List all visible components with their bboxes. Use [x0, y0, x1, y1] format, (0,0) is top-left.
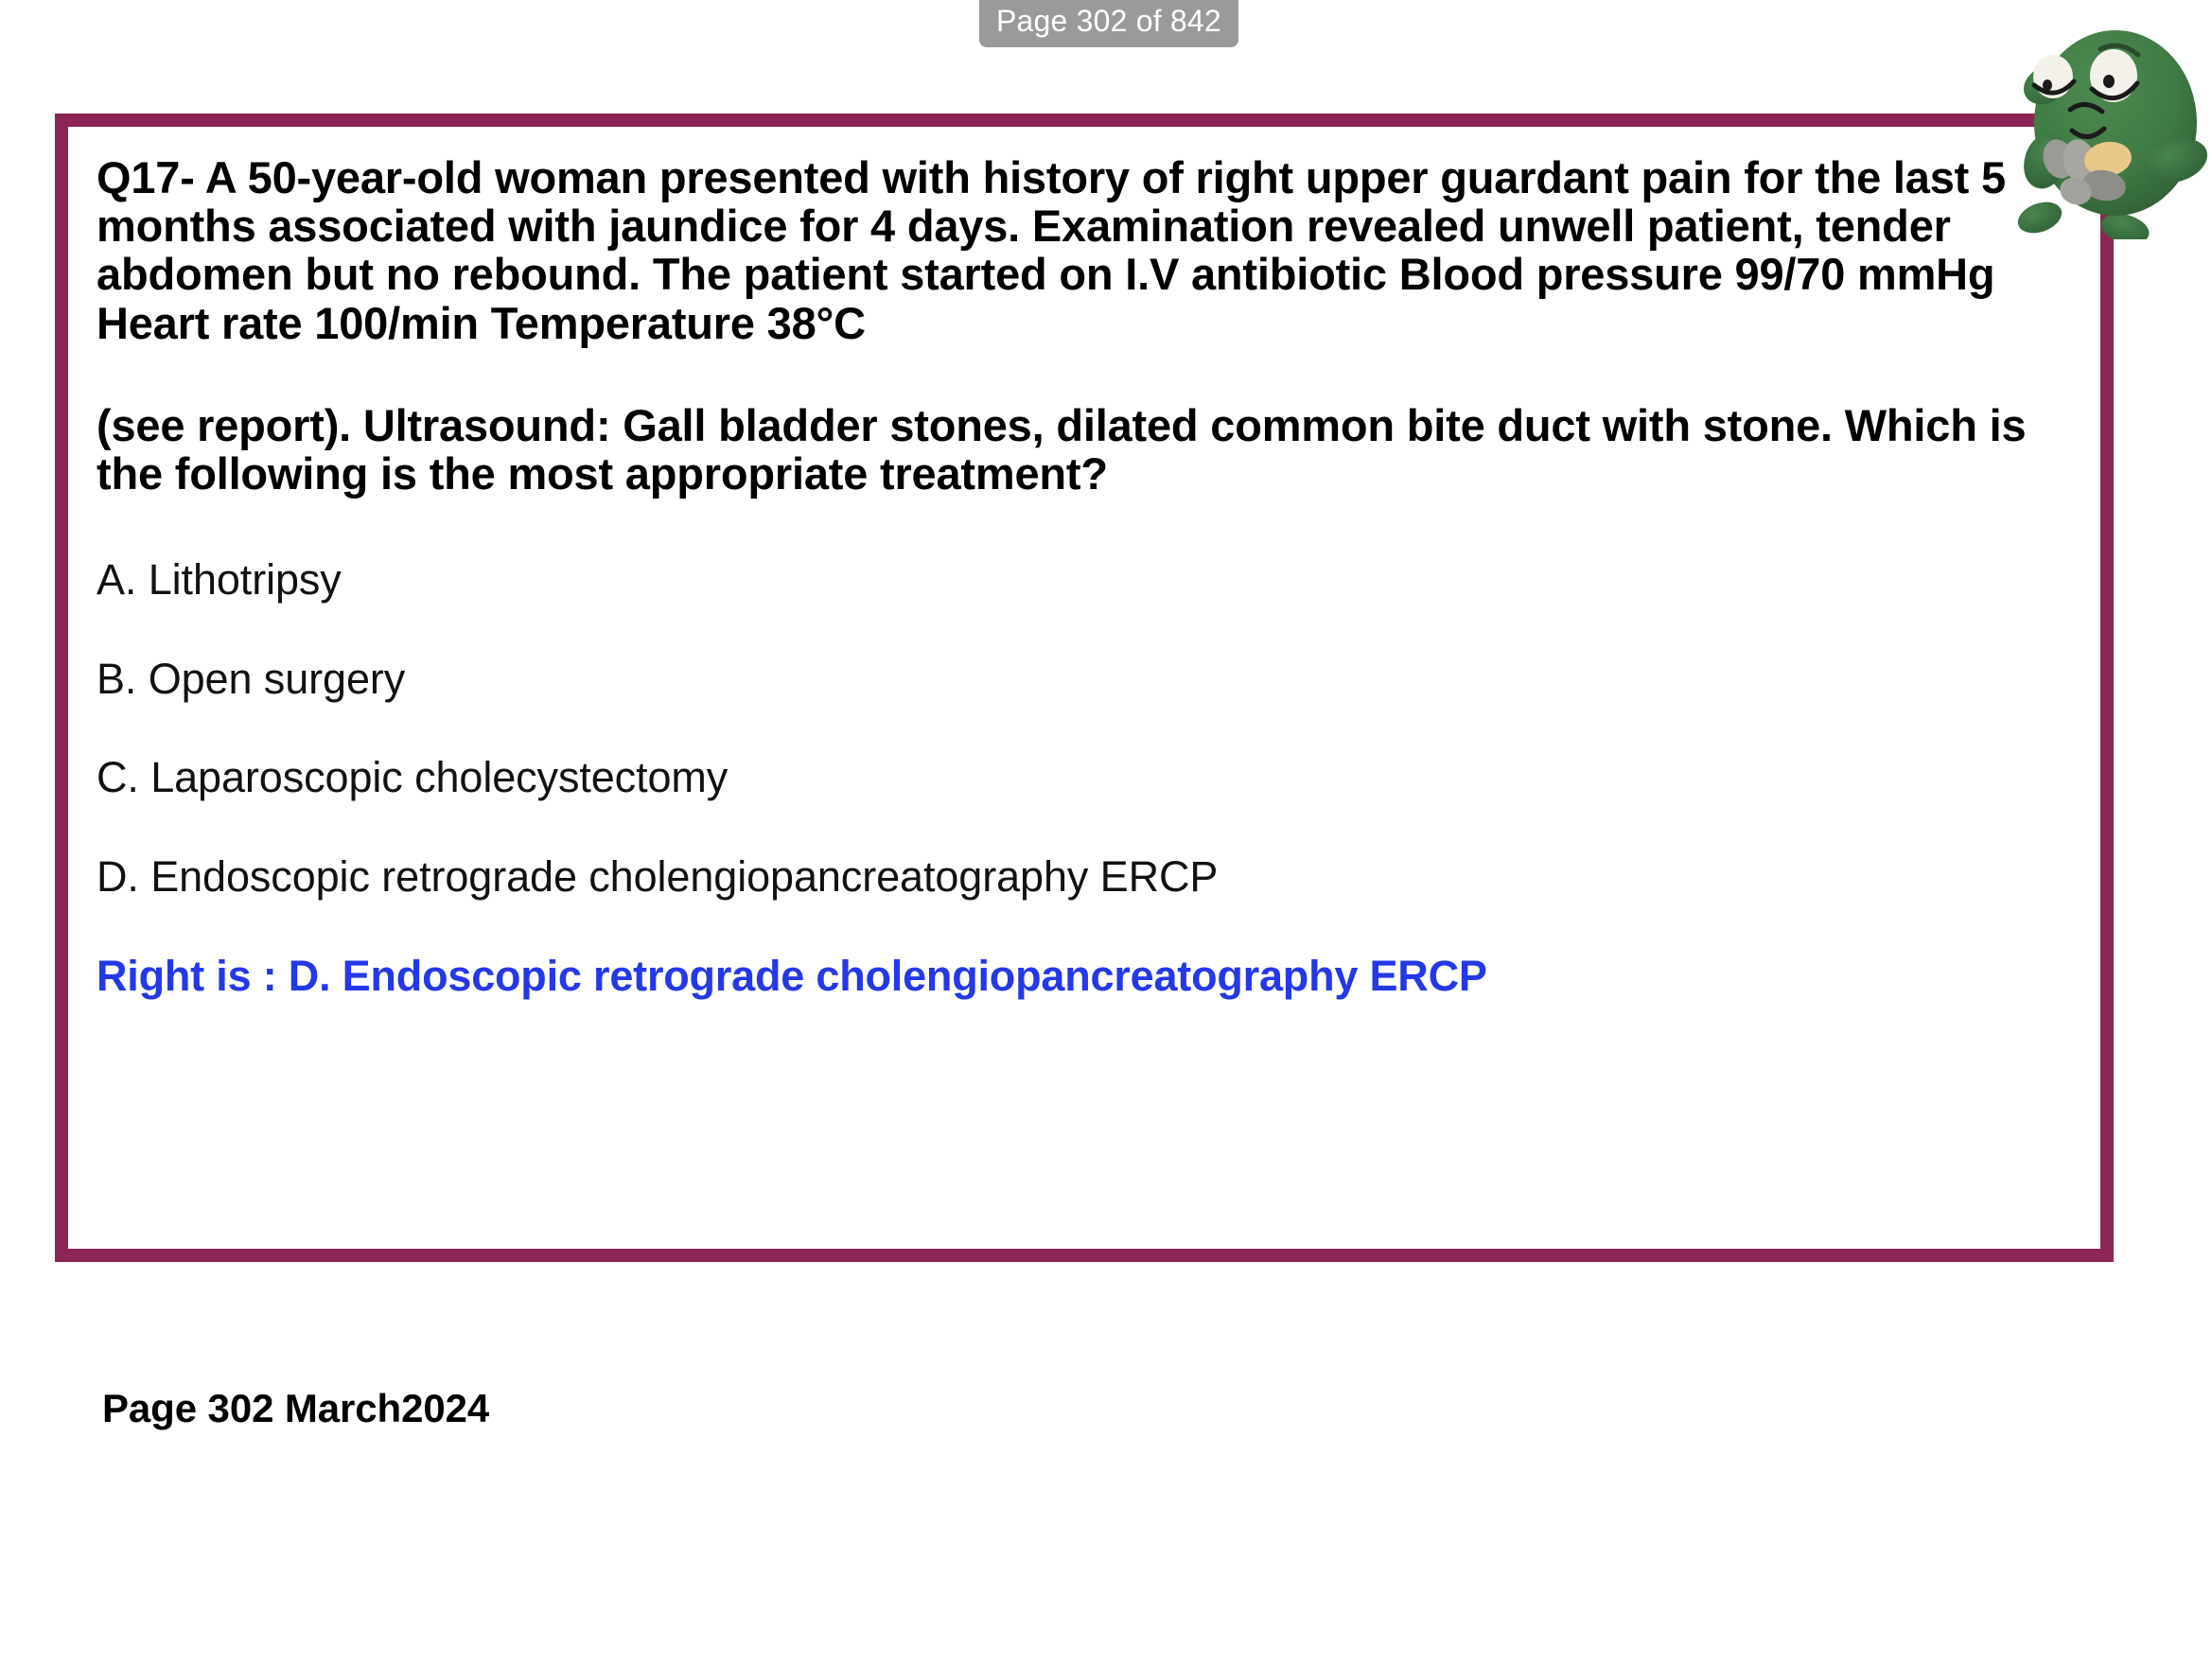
mascot-right-pupil	[2103, 75, 2115, 88]
mascot-right-eye	[2090, 49, 2137, 102]
mascot-brow-furrow	[2070, 104, 2102, 112]
correct-answer-line: Right is : D. Endoscopic retrograde chol…	[97, 952, 2072, 1001]
mascot-left-pupil	[2043, 79, 2052, 91]
question-stem-paragraph-1: Q17- A 50-year-old woman presented with …	[97, 153, 2017, 347]
mascot-right-eyebrow	[2100, 45, 2138, 55]
question-card: Q17- A 50-year-old woman presented with …	[55, 114, 2114, 1262]
page-indicator-badge: Page 302 of 842	[979, 0, 1238, 47]
mascot-left-eyelid	[2034, 81, 2074, 93]
mascot-right-arm	[2139, 131, 2212, 191]
answer-options-list: A. Lithotripsy B. Open surgery C. Laparo…	[97, 556, 2072, 900]
question-stem-paragraph-2: (see report). Ultrasound: Gall bladder s…	[97, 401, 2064, 498]
mascot-right-eyelid	[2092, 83, 2137, 98]
question-card-body: Q17- A 50-year-old woman presented with …	[68, 127, 2100, 1001]
answer-option-a[interactable]: A. Lithotripsy	[97, 556, 2072, 604]
mascot-left-eye	[2033, 55, 2073, 98]
footer-page-note: Page 302 March2024	[102, 1386, 489, 1431]
mascot-duct-nub	[2017, 59, 2074, 112]
answer-option-d[interactable]: D. Endoscopic retrograde cholengiopancre…	[97, 853, 2072, 901]
answer-option-b[interactable]: B. Open surgery	[97, 656, 2072, 703]
answer-option-c[interactable]: C. Laparoscopic cholecystectomy	[97, 754, 2072, 801]
